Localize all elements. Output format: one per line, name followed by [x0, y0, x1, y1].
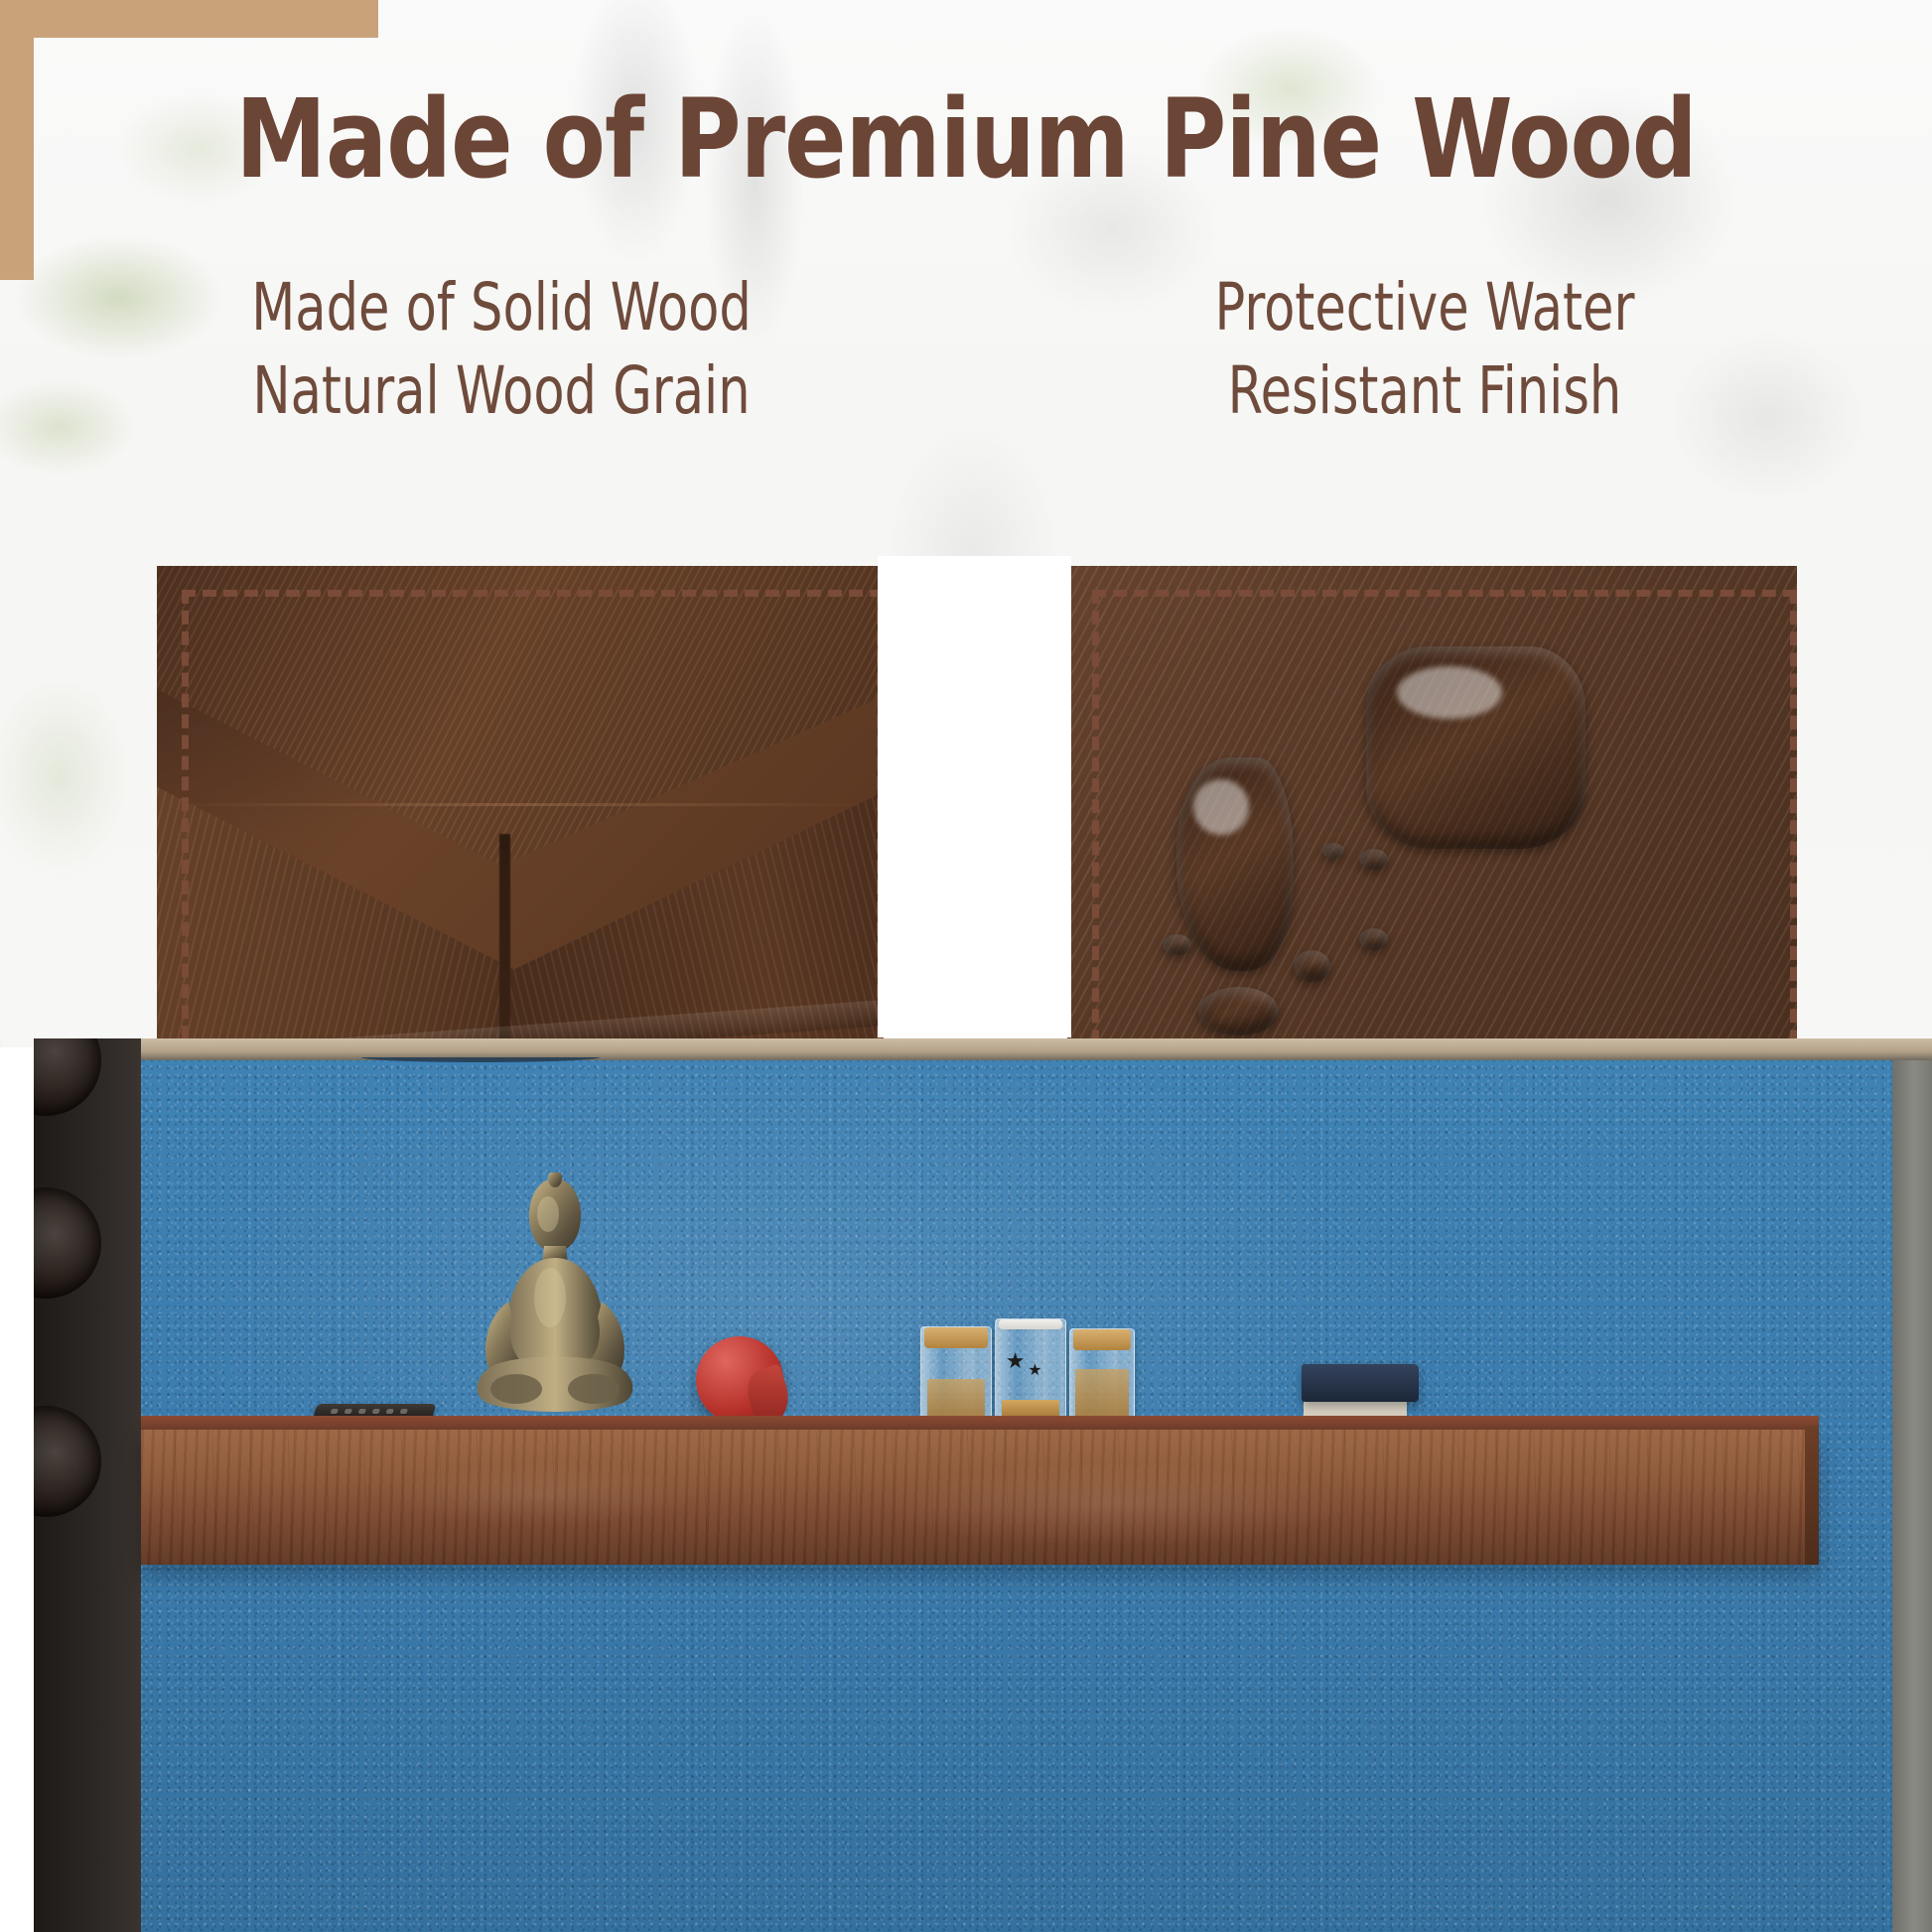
water-droplet-small-4: [1163, 934, 1191, 955]
speaker-driver-1: [34, 1038, 101, 1116]
shelf-right-end-cap: [1805, 1426, 1819, 1565]
water-droplet-small-3: [1322, 843, 1344, 859]
floor-strip: [34, 1038, 1932, 1060]
book: [1302, 1364, 1419, 1422]
wall-return-edge: [1892, 1038, 1932, 1932]
feature-heading-water-resistant: Protective Water Resistant Finish: [1070, 266, 1779, 434]
top-left-tan-band-vertical: [0, 0, 34, 280]
card-gap-spacer: [878, 556, 1071, 1037]
star-decoration-icon: ★: [1028, 1363, 1041, 1379]
feature-heading-line-2: Resistant Finish: [1070, 349, 1779, 433]
red-ceramic-ball: [696, 1336, 783, 1424]
wood-edge-highlight: [157, 803, 878, 806]
feature-image-solid-wood: [157, 566, 878, 1082]
water-droplet-small-1: [1198, 987, 1279, 1035]
feature-heading-line-2: Natural Wood Grain: [147, 349, 856, 433]
speaker-driver-2: [34, 1187, 101, 1299]
top-left-tan-band-horizontal: [0, 0, 378, 38]
water-droplet-small-6: [1359, 928, 1388, 949]
water-droplet-splash: [1176, 758, 1294, 971]
speaker-driver-3: [34, 1406, 101, 1517]
water-resistant-photo: [1067, 566, 1797, 1099]
page-title: Made of Premium Pine Wood: [68, 75, 1864, 203]
speaker-tower: [34, 1038, 141, 1932]
glass-jar-left: [920, 1326, 992, 1424]
glass-jar-right: [1069, 1328, 1135, 1424]
glass-jar-center: ★ ★: [995, 1318, 1066, 1424]
water-droplet-small-2: [1294, 950, 1330, 982]
feature-heading-line-1: Protective Water: [1070, 266, 1779, 349]
feature-heading-solid-wood: Made of Solid Wood Natural Wood Grain: [147, 266, 856, 434]
shelf-front-face: [141, 1430, 1819, 1565]
solid-wood-photo: [157, 566, 878, 1082]
feature-image-water-resistant: [1067, 566, 1797, 1099]
wood-water-texture: [1067, 566, 1797, 1099]
product-feature-graphic: Made of Premium Pine Wood Made of Solid …: [0, 0, 1932, 1932]
water-droplet-large: [1366, 646, 1586, 849]
lifestyle-photo: ★ ★: [34, 1038, 1932, 1932]
water-droplet-small-5: [1359, 849, 1388, 870]
buddha-statue: [461, 1173, 649, 1421]
power-cable: [361, 1052, 600, 1062]
star-decoration-icon: ★: [1006, 1350, 1026, 1372]
floating-wall-shelf: [141, 1416, 1819, 1565]
feature-heading-line-1: Made of Solid Wood: [147, 266, 856, 349]
wood-corner-texture: [157, 566, 878, 1082]
wood-top-face: [157, 566, 878, 866]
